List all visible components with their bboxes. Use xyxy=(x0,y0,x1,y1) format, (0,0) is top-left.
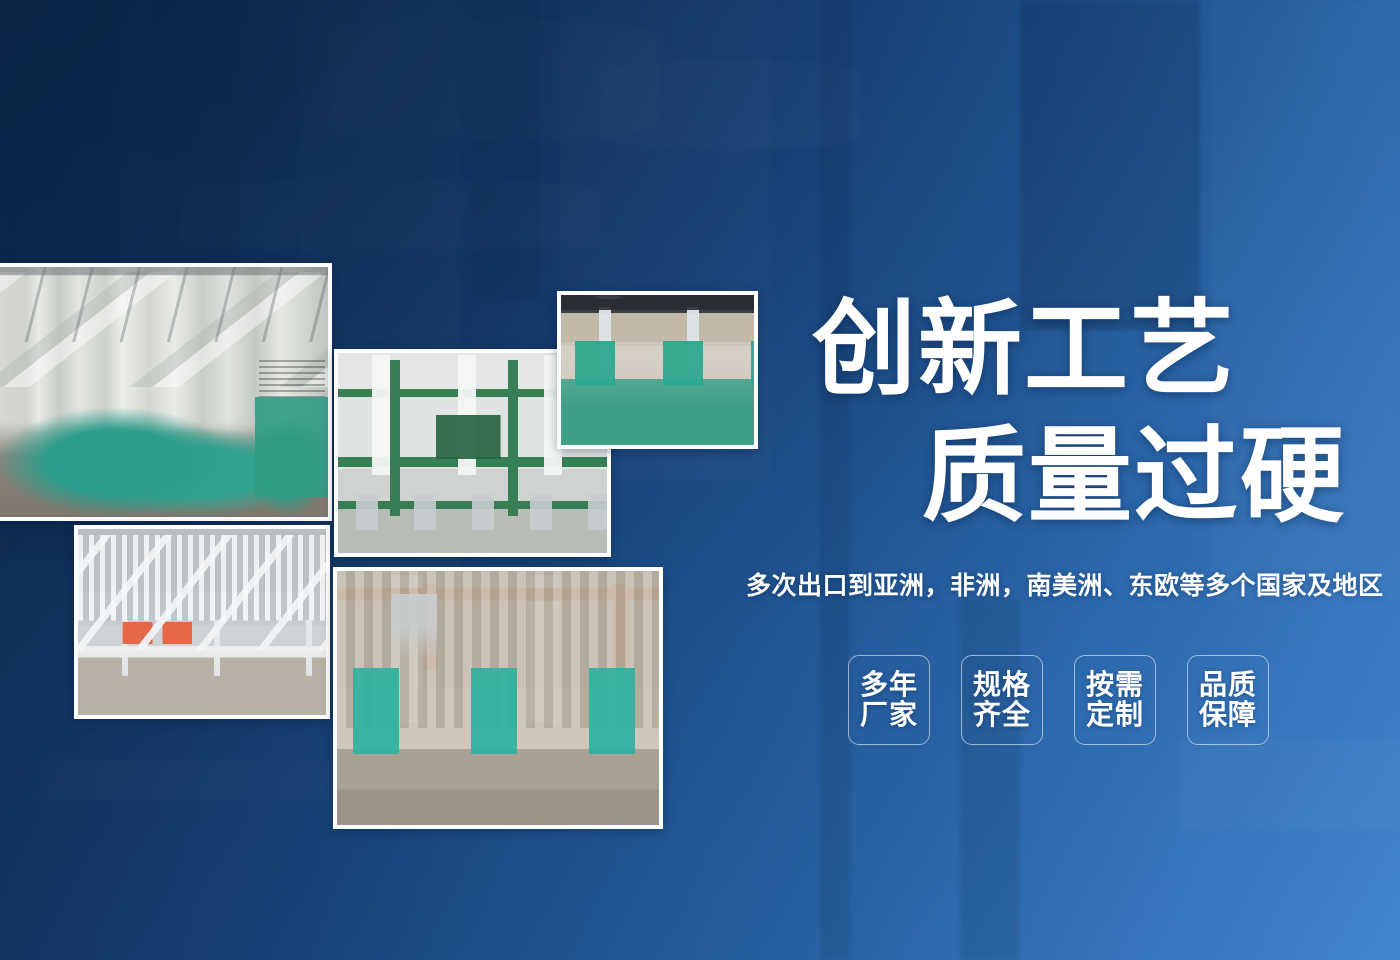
photo-image xyxy=(337,571,659,825)
badge-line-2: 保障 xyxy=(1199,700,1257,730)
badge-line-2: 齐全 xyxy=(973,700,1031,730)
badge-line-2: 定制 xyxy=(1086,700,1144,730)
photo-image xyxy=(0,267,328,517)
photo-flour-milling-line-overview xyxy=(0,263,332,521)
photo-image xyxy=(561,295,754,445)
photo-image xyxy=(78,529,326,715)
badge-line-1: 品质 xyxy=(1199,670,1257,700)
headline-line-2: 质量过硬 xyxy=(922,425,1346,529)
feature-badge-list: 多年 厂家 规格 齐全 按需 定制 品质 保障 xyxy=(848,655,1269,745)
feature-badge-custom-made[interactable]: 按需 定制 xyxy=(1074,655,1156,745)
photo-elevated-platform-milling-line xyxy=(74,525,330,719)
badge-line-1: 多年 xyxy=(860,670,918,700)
feature-badge-full-specs[interactable]: 规格 齐全 xyxy=(961,655,1043,745)
headline-line-1: 创新工艺 xyxy=(812,298,1236,402)
photo-combined-rice-flour-mill-plant xyxy=(333,567,663,829)
feature-badge-many-years[interactable]: 多年 厂家 xyxy=(848,655,930,745)
badge-line-2: 厂家 xyxy=(860,700,918,730)
badge-line-1: 按需 xyxy=(1086,670,1144,700)
promo-banner: 创新工艺 质量过硬 多次出口到亚洲，非洲，南美洲、东欧等多个国家及地区 多年 厂… xyxy=(0,0,1400,960)
subtitle: 多次出口到亚洲，非洲，南美洲、东欧等多个国家及地区 xyxy=(746,566,1384,602)
badge-line-1: 规格 xyxy=(973,670,1031,700)
photo-small-mill-units-on-green-floor xyxy=(557,291,758,449)
feature-badge-quality-guarantee[interactable]: 品质 保障 xyxy=(1187,655,1269,745)
